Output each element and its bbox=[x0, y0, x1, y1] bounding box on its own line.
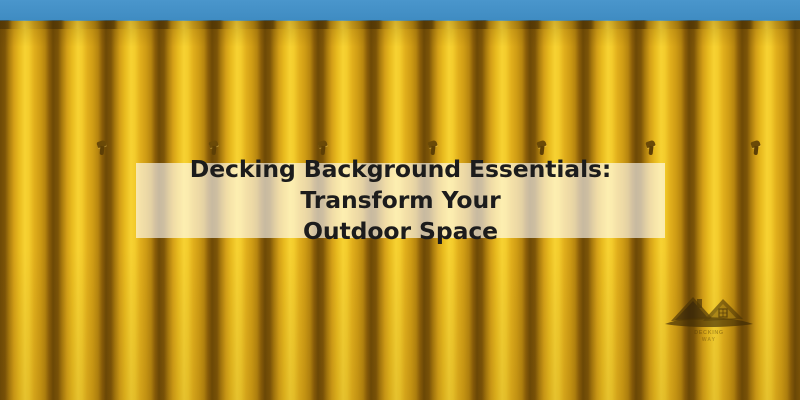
title-overlay-box: Decking Background Essentials: Transform… bbox=[136, 163, 665, 238]
page-title-line-1: Decking Background Essentials: Transform… bbox=[190, 155, 611, 214]
hero-banner: Decking Background Essentials: Transform… bbox=[0, 0, 800, 400]
page-title: Decking Background Essentials: Transform… bbox=[136, 154, 665, 247]
page-title-line-2: Outdoor Space bbox=[303, 217, 498, 245]
